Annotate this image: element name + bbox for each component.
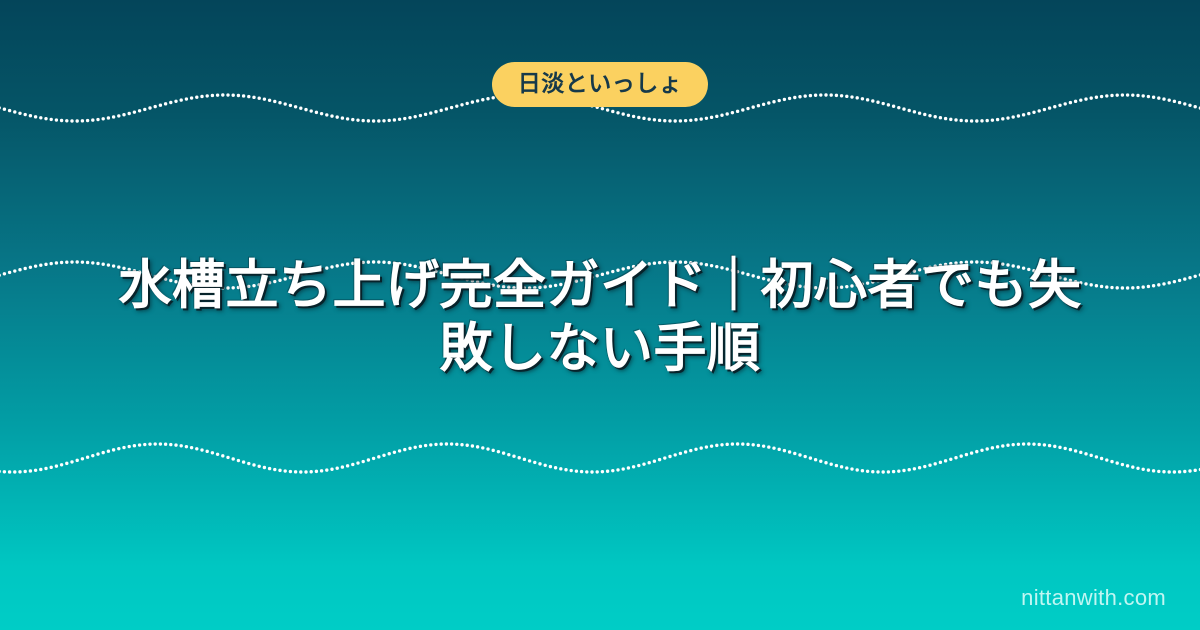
og-image-card: 日淡といっしょ 水槽立ち上げ完全ガイド｜初心者でも失敗しない手順 nittanw… [0, 0, 1200, 630]
title-container: 水槽立ち上げ完全ガイド｜初心者でも失敗しない手順 [100, 255, 1100, 380]
category-badge-container: 日淡といっしょ [0, 62, 1200, 107]
site-badge: 日淡といっしょ [492, 62, 709, 107]
page-title: 水槽立ち上げ完全ガイド｜初心者でも失敗しない手順 [100, 255, 1100, 380]
site-url: nittanwith.com [1021, 585, 1166, 610]
footer-container: nittanwith.com [1021, 587, 1166, 610]
